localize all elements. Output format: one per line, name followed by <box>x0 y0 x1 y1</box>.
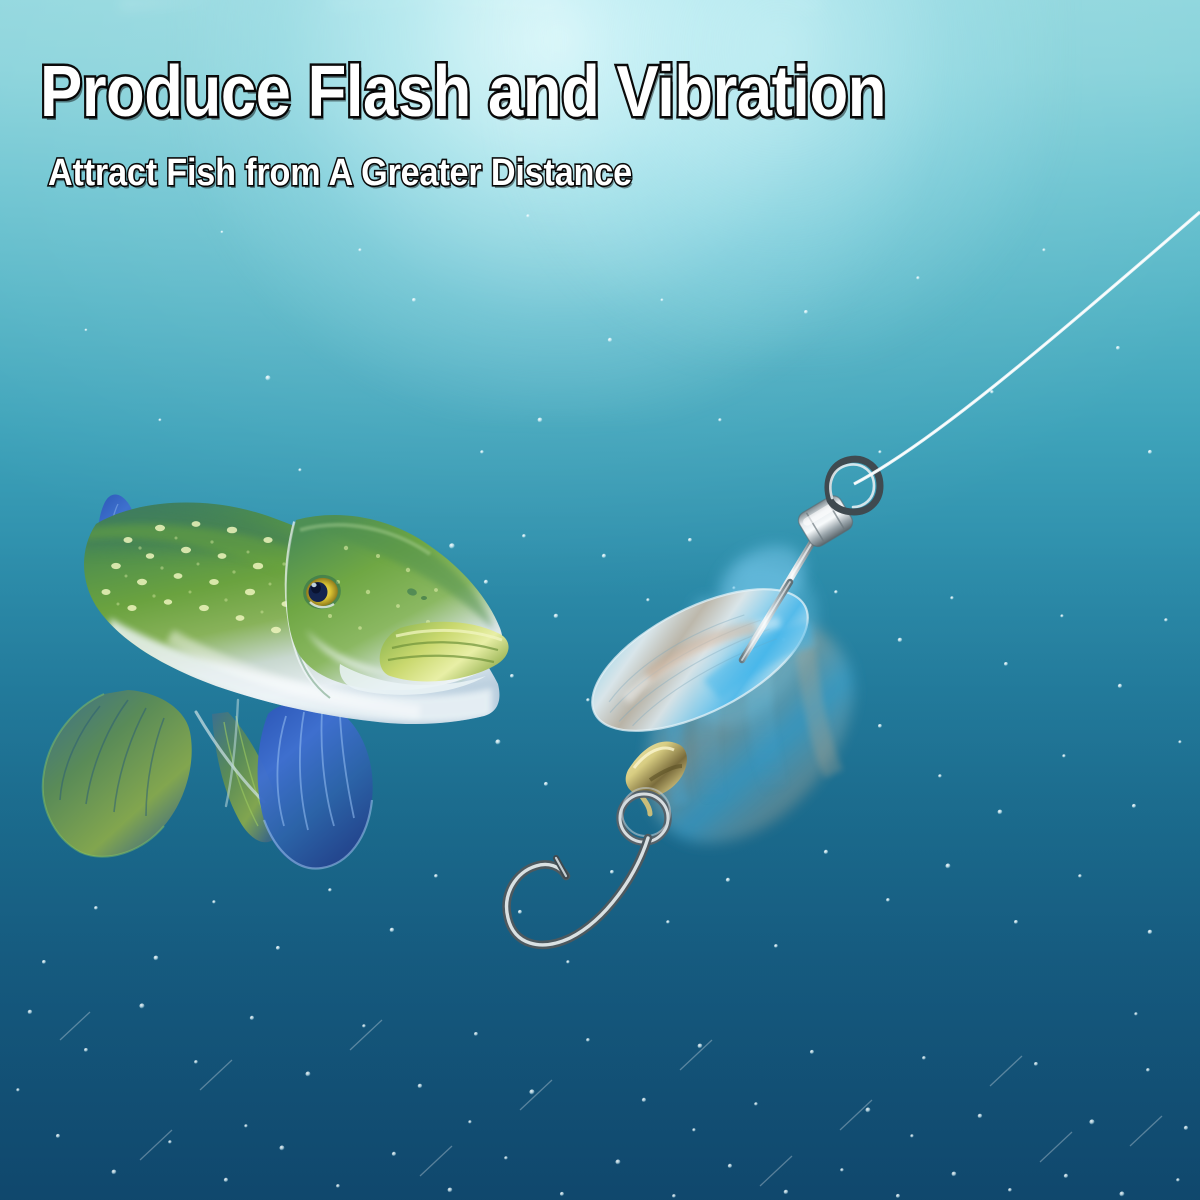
promo-copy: Produce Flash and Vibration Attract Fish… <box>40 56 1040 192</box>
promo-image-canvas: Produce Flash and Vibration Attract Fish… <box>0 0 1200 1200</box>
page-title: Produce Flash and Vibration <box>40 56 920 128</box>
page-subtitle: Attract Fish from A Greater Distance <box>48 154 941 192</box>
